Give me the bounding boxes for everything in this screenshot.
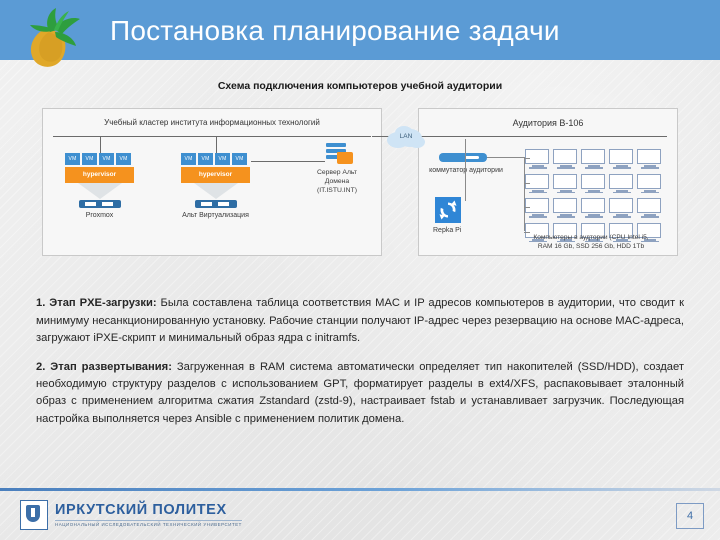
slide-title-bar: Постановка планирование задачи <box>0 0 720 60</box>
body-text: 1. Этап PXE-загрузки: Была составлена та… <box>36 284 684 439</box>
pc-caption-line-1: Компьютеры в аудтории (CPU Intel i5, <box>505 233 677 242</box>
pc-caption-line-2: RAM 16 Gb, SSD 256 Gb, HDD 1Tb <box>505 242 677 251</box>
footer-divider <box>0 488 720 491</box>
paragraph-pxe: 1. Этап PXE-загрузки: Была составлена та… <box>36 295 684 347</box>
pc-icon <box>637 149 662 169</box>
pc-icon <box>553 174 578 194</box>
domain-server: Сервер Альт Домена (IT.ISTU.INT) <box>311 143 363 195</box>
turnip-icon <box>14 2 92 74</box>
pc-icon <box>609 149 634 169</box>
server-device-icon <box>79 200 121 208</box>
vm-box: VM <box>65 153 80 165</box>
vm-box: VM <box>99 153 114 165</box>
classroom-backbone-line <box>429 136 667 137</box>
lan-label: LAN <box>384 133 428 140</box>
server-stack-icon <box>326 143 348 163</box>
repka-pi-caption: Repka Pi <box>433 227 501 234</box>
network-diagram: Учебный кластер института информационных… <box>42 108 678 256</box>
cluster-panel: Учебный кластер института информационных… <box>42 108 382 256</box>
paragraph-deploy: 2. Этап развертывания: Загруженная в RAM… <box>36 359 684 429</box>
pc-icon <box>525 198 550 218</box>
pc-row <box>525 198 675 218</box>
pc-grid-caption: Компьютеры в аудтории (CPU Intel i5, RAM… <box>505 233 677 251</box>
pc-icon <box>553 149 578 169</box>
domain-server-caption: Сервер Альт Домена (IT.ISTU.INT) <box>311 168 363 195</box>
cluster-device-caption: Proxmox <box>65 212 134 219</box>
sync-refresh-icon <box>435 197 461 223</box>
cluster-drop-line-2 <box>216 137 217 153</box>
cluster-device-caption: Альт Виртуализация <box>181 212 250 219</box>
pc-icon <box>553 198 578 218</box>
server-stack-bar <box>326 143 346 147</box>
pc-icon <box>637 174 662 194</box>
classroom-panel: Аудитория В-106 коммутатор аудитории Rep… <box>418 108 678 256</box>
pc-icon <box>609 198 634 218</box>
vm-box: VM <box>82 153 97 165</box>
vm-box: VM <box>232 153 247 165</box>
lan-cloud-icon: LAN <box>384 124 428 150</box>
pc-row <box>525 149 675 169</box>
university-names: ИРКУТСКИЙ ПОЛИТЕХ НАЦИОНАЛЬНЫЙ ИССЛЕДОВА… <box>55 503 242 528</box>
pc-icon <box>581 174 606 194</box>
vm-box: VM <box>198 153 213 165</box>
classroom-panel-header: Аудитория В-106 <box>419 118 677 128</box>
university-logo: ИРКУТСКИЙ ПОЛИТЕХ НАЦИОНАЛЬНЫЙ ИССЛЕДОВА… <box>20 500 242 530</box>
switch-drop-line <box>465 139 466 201</box>
university-subtitle: НАЦИОНАЛЬНЫЙ ИССЛЕДОВАТЕЛЬСКИЙ ТЕХНИЧЕСК… <box>55 520 242 527</box>
pc-icon <box>609 174 634 194</box>
paragraph-pxe-lead: 1. Этап PXE-загрузки: <box>36 297 157 309</box>
paragraph-deploy-lead: 2. Этап развертывания: <box>36 361 172 373</box>
folder-icon <box>337 152 353 164</box>
pc-icon <box>581 198 606 218</box>
domain-server-line-2: (IT.ISTU.INT) <box>311 186 363 195</box>
funnel-shape <box>78 183 122 199</box>
diagram-title: Схема подключения компьютеров учебной ау… <box>0 80 720 92</box>
server-device-icon <box>195 200 237 208</box>
pc-icon <box>581 149 606 169</box>
presentation-slide: Постановка планирование задачи Схема под… <box>0 0 720 540</box>
cluster-group-alt: VM VM VM VM hypervisor Альт Виртуализаци… <box>181 153 250 219</box>
university-name: ИРКУТСКИЙ ПОЛИТЕХ <box>55 503 242 518</box>
vm-box: VM <box>215 153 230 165</box>
cluster-drop-line-1 <box>100 137 101 153</box>
repka-pi-node: Repka Pi <box>431 197 501 234</box>
vm-box: VM <box>116 153 131 165</box>
pc-row <box>525 174 675 194</box>
page-number-badge: 4 <box>676 503 704 529</box>
cluster-group-proxmox: VM VM VM VM hypervisor Proxmox <box>65 153 134 219</box>
vm-row: VM VM VM VM <box>65 153 134 165</box>
hypervisor-bar: hypervisor <box>65 167 134 183</box>
shield-icon <box>20 500 48 530</box>
hypervisor-bar: hypervisor <box>181 167 250 183</box>
pc-icon <box>525 149 550 169</box>
vm-row: VM VM VM VM <box>181 153 250 165</box>
switch-caption: коммутатор аудитории <box>421 167 511 174</box>
pc-icon <box>637 198 662 218</box>
page-title: Постановка планирование задачи <box>110 10 690 52</box>
switch-icon <box>439 153 487 162</box>
pc-icon <box>525 174 550 194</box>
switch-feed-line <box>487 157 525 158</box>
domain-server-line-1: Сервер Альт Домена <box>311 168 363 186</box>
vm-box: VM <box>181 153 196 165</box>
cluster-panel-header: Учебный кластер института информационных… <box>43 118 381 127</box>
funnel-shape <box>194 183 238 199</box>
